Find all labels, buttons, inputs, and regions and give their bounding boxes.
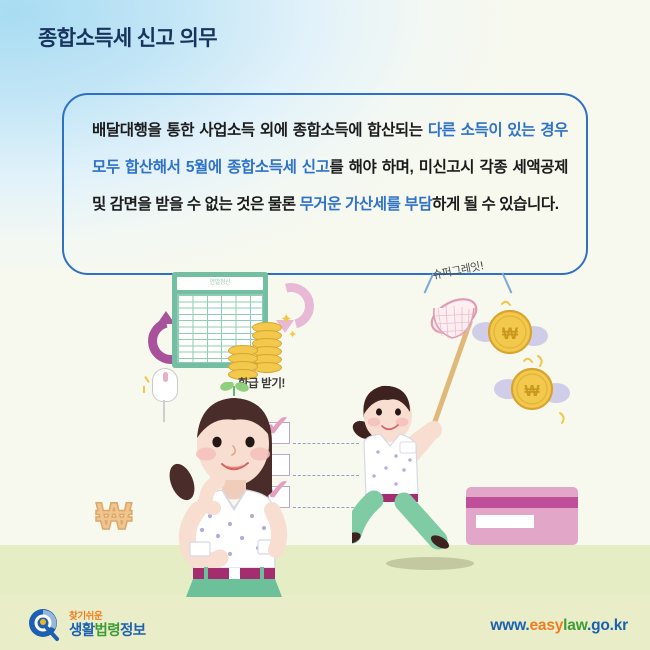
ground-shadow bbox=[386, 557, 474, 570]
magnifier-logo-icon bbox=[28, 608, 62, 642]
callout-text: 배달대행을 통한 사업소득 외에 종합소득에 합산되는 다른 소득이 있는 경우… bbox=[92, 112, 568, 223]
page-title: 종합소득세 신고 의무 bbox=[38, 22, 217, 52]
svg-text:₩: ₩ bbox=[502, 324, 519, 343]
url-part-domain: .go.kr bbox=[587, 617, 628, 634]
logo-title: 생활법령정보 bbox=[69, 623, 145, 640]
callout-segment-1: 배달대행을 통한 사업소득 외에 종합소득에 합산되는 bbox=[92, 122, 428, 139]
sparkle-icon-1: ✦ bbox=[280, 312, 293, 327]
site-url[interactable]: www.easylaw.go.kr bbox=[490, 617, 628, 635]
ground-band bbox=[0, 545, 650, 597]
thinking-woman-illustration bbox=[160, 382, 310, 597]
url-part-easy: easy bbox=[529, 617, 563, 634]
sparkle-icon-2: ✦ bbox=[288, 330, 297, 341]
url-part-law: law bbox=[563, 617, 587, 634]
callout-segment-5: 하게 될 수 있습니다. bbox=[432, 196, 559, 213]
mouse-wheel-icon bbox=[163, 372, 168, 382]
url-part-www: www. bbox=[490, 617, 529, 634]
won-symbol-icon: ₩ bbox=[96, 498, 132, 536]
logo-title-part-3: 정보 bbox=[120, 623, 145, 639]
flying-coin-2-icon: ₩ bbox=[490, 355, 574, 433]
sheet-title-label: 연말정산 bbox=[177, 277, 263, 290]
svg-text:₩: ₩ bbox=[524, 383, 540, 400]
credit-card-signature-strip bbox=[476, 515, 534, 528]
logo-title-part-2: 법령 bbox=[94, 623, 119, 639]
callout-segment-4-highlight: 무거운 가산세를 부담 bbox=[300, 196, 433, 213]
credit-card-stripe bbox=[466, 497, 578, 508]
logo-title-part-1: 생활 bbox=[69, 623, 94, 639]
mouse-spark-icon-2 bbox=[143, 386, 145, 393]
credit-card-icon bbox=[466, 487, 578, 545]
infographic-card: 종합소득세 신고 의무 배달대행을 통한 사업소득 외에 종합소득에 합산되는 … bbox=[0, 0, 650, 650]
logo-tagline: 찾기쉬운 bbox=[69, 611, 145, 623]
site-logo[interactable]: 찾기쉬운 생활법령정보 bbox=[28, 608, 145, 642]
